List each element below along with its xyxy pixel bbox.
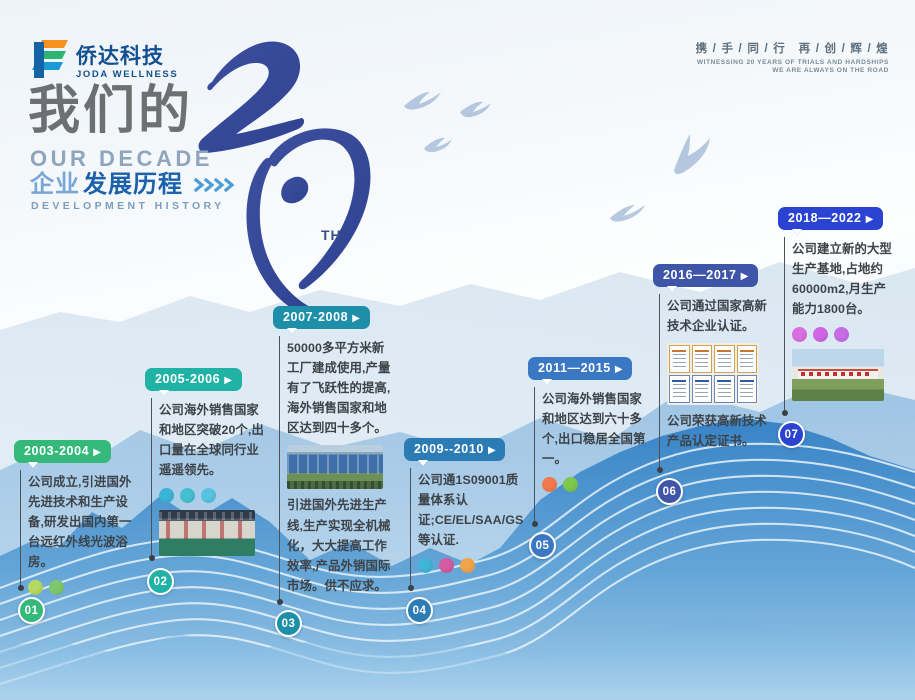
period-label: 2018—2022 xyxy=(788,211,866,225)
card-body: 公司通1S09001质量体系认证;CE/EL/SAA/GS等认证. xyxy=(404,470,524,573)
timeline-card-01: 2003-2004 ▶公司成立,引进国外先进技术和生产设备,研发出国内第一台远红… xyxy=(14,440,134,599)
period-label: 2005-2006 xyxy=(155,372,224,386)
card-paragraph: 公司成立,引进国外先进技术和生产设备,研发出国内第一台远红外线光波浴房。 xyxy=(28,472,134,572)
card-paragraph: 公司海外销售国家和地区突破20个,出口量在全球同行业遥遥领先。 xyxy=(159,400,265,480)
badge-pointer xyxy=(667,286,677,292)
timeline-card-04: 2009--2010 ▶公司通1S09001质量体系认证;CE/EL/SAA/G… xyxy=(404,438,524,577)
play-arrow-icon: ▶ xyxy=(352,313,360,324)
play-arrow-icon: ▶ xyxy=(866,214,874,225)
badge-pointer xyxy=(287,328,297,334)
accent-dot xyxy=(418,558,433,573)
accent-dot xyxy=(180,488,195,503)
card-image-production-base-exterior xyxy=(792,349,884,401)
accent-dots xyxy=(542,477,648,492)
period-badge-07[interactable]: 2018—2022 ▶ xyxy=(778,207,883,230)
badge-pointer xyxy=(792,229,802,235)
card-paragraph: 公司海外销售国家和地区达到六十多个,出口稳居全国第一。 xyxy=(542,389,648,469)
period-badge-01[interactable]: 2003-2004 ▶ xyxy=(14,440,111,463)
badge-pointer xyxy=(159,390,169,396)
accent-dot xyxy=(28,580,43,595)
play-arrow-icon: ▶ xyxy=(615,364,623,375)
timeline-card-05: 2011—2015 ▶公司海外销售国家和地区达到六十多个,出口稳居全国第一。 xyxy=(528,357,648,496)
timeline-node-06[interactable]: 06 xyxy=(656,478,683,505)
subtitle-cn: 企业 发展历程 xyxy=(30,172,237,198)
timeline-stem-cap xyxy=(657,467,663,473)
card-image-factory-hall-interior xyxy=(159,510,255,556)
card-body: 公司通过国家高新技术企业认证。公司荣获高新技术产品认定证书。 xyxy=(653,296,773,451)
card-paragraph: 公司通过国家高新技术企业认证。 xyxy=(667,296,773,336)
period-badge-04[interactable]: 2009--2010 ▶ xyxy=(404,438,505,461)
period-badge-06[interactable]: 2016—2017 ▶ xyxy=(653,264,758,287)
tagline-block: 携 / 手 / 同 / 行 再 / 创 / 辉 / 煌 WITNESSING 2… xyxy=(696,40,889,74)
timeline-node-05[interactable]: 05 xyxy=(529,532,556,559)
card-body: 公司海外销售国家和地区突破20个,出口量在全球同行业遥遥领先。 xyxy=(145,400,265,556)
period-label: 2003-2004 xyxy=(24,444,93,458)
accent-dot xyxy=(460,558,475,573)
tagline-cn: 携 / 手 / 同 / 行 再 / 创 / 辉 / 煌 xyxy=(696,40,889,56)
tagline-en-line1: WITNESSING 20 YEARS OF TRIALS AND HARDSH… xyxy=(696,59,889,66)
poster-canvas: 侨达科技 JODA WELLNESS 我们的 OUR DECADE 企业 发展历… xyxy=(0,0,915,700)
accent-dot xyxy=(159,488,174,503)
card-paragraph: 公司建立新的大型生产基地,占地约60000m2,月生产能力1800台。 xyxy=(792,239,898,319)
timeline-node-01[interactable]: 01 xyxy=(18,597,45,624)
subtitle-cn-light: 企业 xyxy=(30,172,80,198)
card-paragraph-secondary: 引进国外先进生产线,生产实现全机械化，大大提高工作效率,产品外销国际市场。供不应… xyxy=(287,495,393,595)
timeline-card-02: 2005-2006 ▶公司海外销售国家和地区突破20个,出口量在全球同行业遥遥领… xyxy=(145,368,265,556)
page-title-cn: 我们的 xyxy=(28,85,193,137)
timeline-node-03[interactable]: 03 xyxy=(275,610,302,637)
badge-pointer xyxy=(28,462,38,468)
timeline-card-06: 2016—2017 ▶公司通过国家高新技术企业认证。公司荣获高新技术产品认定证书… xyxy=(653,264,773,451)
period-badge-05[interactable]: 2011—2015 ▶ xyxy=(528,357,632,380)
badge-pointer xyxy=(542,379,552,385)
subtitle-cn-dark: 发展历程 xyxy=(83,172,183,198)
period-label: 2011—2015 xyxy=(538,361,615,375)
logo-text-en: JODA WELLNESS xyxy=(76,70,178,80)
accent-dots xyxy=(28,580,134,595)
card-body: 公司成立,引进国外先进技术和生产设备,研发出国内第一台远红外线光波浴房。 xyxy=(14,472,134,595)
period-badge-02[interactable]: 2005-2006 ▶ xyxy=(145,368,242,391)
card-image-factory-aerial-view xyxy=(287,445,383,489)
period-label: 2016—2017 xyxy=(663,268,741,282)
card-paragraph-secondary: 公司荣获高新技术产品认定证书。 xyxy=(667,411,773,451)
play-arrow-icon: ▶ xyxy=(224,375,232,386)
tagline-en-line2: WE ARE ALWAYS ON THE ROAD xyxy=(696,67,889,74)
timeline-card-03: 2007-2008 ▶50000多平方米新工厂建成使用,产量有了飞跃性的提高,海… xyxy=(273,306,393,596)
accent-dot xyxy=(813,327,828,342)
period-label: 2009--2010 xyxy=(414,442,488,456)
play-arrow-icon: ▶ xyxy=(93,447,101,458)
accent-dots xyxy=(792,327,898,342)
accent-dots xyxy=(159,488,265,503)
card-paragraph: 50000多平方米新工厂建成使用,产量有了飞跃性的提高,海外销售国家和地区达到四… xyxy=(287,338,393,438)
card-body: 50000多平方米新工厂建成使用,产量有了飞跃性的提高,海外销售国家和地区达到四… xyxy=(273,338,393,596)
page-title-en: OUR DECADE xyxy=(30,146,213,172)
accent-dot xyxy=(49,580,64,595)
play-arrow-icon: ▶ xyxy=(741,271,749,282)
anniversary-suffix: TH xyxy=(321,227,342,243)
badge-pointer xyxy=(418,460,428,466)
timeline-stem-cap xyxy=(408,585,414,591)
card-body: 公司海外销售国家和地区达到六十多个,出口稳居全国第一。 xyxy=(528,389,648,492)
subtitle-en: DEVELOPMENT HISTORY xyxy=(31,200,225,212)
brand-logo: 侨达科技 JODA WELLNESS xyxy=(28,36,178,80)
timeline-card-07: 2018—2022 ▶公司建立新的大型生产基地,占地约60000m2,月生产能力… xyxy=(778,207,898,401)
card-paragraph: 公司通1S09001质量体系认证;CE/EL/SAA/GS等认证. xyxy=(418,470,524,550)
card-body: 公司建立新的大型生产基地,占地约60000m2,月生产能力1800台。 xyxy=(778,239,898,401)
timeline-node-07[interactable]: 07 xyxy=(778,421,805,448)
timeline-stem-cap xyxy=(532,521,538,527)
accent-dot xyxy=(439,558,454,573)
accent-dot xyxy=(834,327,849,342)
timeline-stem-cap xyxy=(277,599,283,605)
accent-dot xyxy=(201,488,216,503)
accent-dots xyxy=(418,558,524,573)
accent-dot xyxy=(792,327,807,342)
logo-text-cn: 侨达科技 xyxy=(76,46,178,67)
period-badge-03[interactable]: 2007-2008 ▶ xyxy=(273,306,370,329)
timeline-stem-cap xyxy=(782,410,788,416)
play-arrow-icon: ▶ xyxy=(488,445,496,456)
card-image-certificates-grid xyxy=(667,343,759,405)
timeline-node-02[interactable]: 02 xyxy=(147,568,174,595)
stacked-bars-logo-icon xyxy=(28,36,70,80)
accent-dot xyxy=(563,477,578,492)
accent-dot xyxy=(542,477,557,492)
period-label: 2007-2008 xyxy=(283,310,352,324)
bird-flock xyxy=(404,92,710,222)
timeline-node-04[interactable]: 04 xyxy=(406,597,433,624)
chevron-right-icon xyxy=(193,176,237,194)
